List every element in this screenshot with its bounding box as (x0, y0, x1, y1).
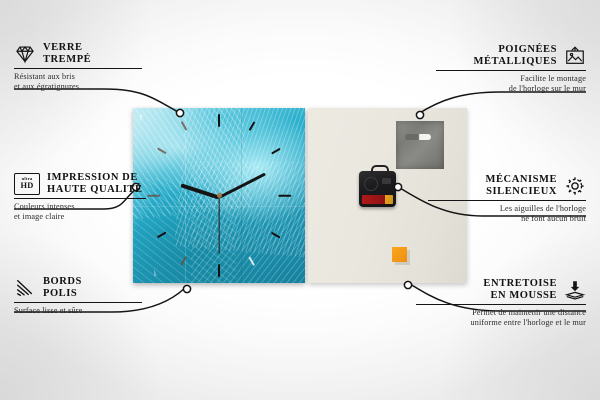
product-photo (133, 108, 467, 283)
movement-module (382, 178, 391, 184)
callout-verre-trempe: VERRE TREMPÉ Résistant aux bris et aux é… (14, 42, 142, 92)
callout-title: POIGNÉES MÉTALLIQUES (474, 44, 557, 67)
glass-seam (241, 108, 242, 283)
callout-title: MÉCANISME SILENCIEUX (486, 174, 557, 197)
picture-frame-icon (564, 45, 586, 67)
clock-center-pin (217, 193, 222, 198)
divider (14, 68, 142, 69)
callout-title: BORDS POLIS (43, 276, 82, 299)
callout-header: BORDS POLIS (14, 276, 142, 299)
battery (362, 195, 393, 204)
foam-spacer-icon (564, 279, 586, 301)
divider (14, 198, 146, 199)
callout-header: MÉCANISME SILENCIEUX (428, 174, 586, 197)
metal-hanger-plate (396, 121, 444, 169)
callout-entretoise-en-mousse: ENTRETOISE EN MOUSSE Permet de maintenir… (416, 278, 586, 328)
callout-title: ENTRETOISE EN MOUSSE (483, 278, 557, 301)
callout-header: VERRE TREMPÉ (14, 42, 142, 65)
callout-bords-polis: BORDS POLIS Surface lisse et sûre (14, 276, 142, 316)
callout-mecanisme-silencieux: MÉCANISME SILENCIEUX Les aiguilles de l'… (428, 174, 586, 224)
clock-tick-6 (218, 264, 220, 277)
divider (14, 302, 142, 303)
divider (436, 70, 586, 71)
polished-edges-icon (14, 277, 36, 299)
callout-header: ultra HD IMPRESSION DE HAUTE QUALITÉ (14, 172, 146, 195)
infographic-canvas: VERRE TREMPÉ Résistant aux bris et aux é… (0, 0, 600, 400)
callout-title: IMPRESSION DE HAUTE QUALITÉ (47, 172, 143, 195)
callout-impression-haute-qualite: ultra HD IMPRESSION DE HAUTE QUALITÉ Cou… (14, 172, 146, 222)
clock-tick-12 (218, 114, 220, 127)
feather-texture (133, 108, 252, 219)
hanger-loop (371, 165, 389, 176)
divider (416, 304, 586, 305)
callout-header: POIGNÉES MÉTALLIQUES (436, 44, 586, 67)
callout-poignees-metalliques: POIGNÉES MÉTALLIQUES Facilite le montage… (436, 44, 586, 94)
feather-texture (174, 108, 305, 257)
movement-dial (364, 177, 378, 191)
callout-header: ENTRETOISE EN MOUSSE (416, 278, 586, 301)
quartz-movement (359, 171, 396, 207)
leader-dot-bords-polis (183, 285, 190, 292)
feather-texture (191, 161, 305, 284)
ultra-hd-icon: ultra HD (14, 173, 40, 195)
foam-spacer (392, 247, 407, 262)
divider (428, 200, 586, 201)
diamond-icon (14, 43, 36, 65)
gear-icon (564, 175, 586, 197)
callout-title: VERRE TREMPÉ (43, 42, 91, 65)
clock-tick-9 (147, 195, 160, 197)
clock-tick-3 (278, 195, 291, 197)
clock-front-view (133, 108, 305, 283)
clock-second-hand (218, 196, 219, 253)
